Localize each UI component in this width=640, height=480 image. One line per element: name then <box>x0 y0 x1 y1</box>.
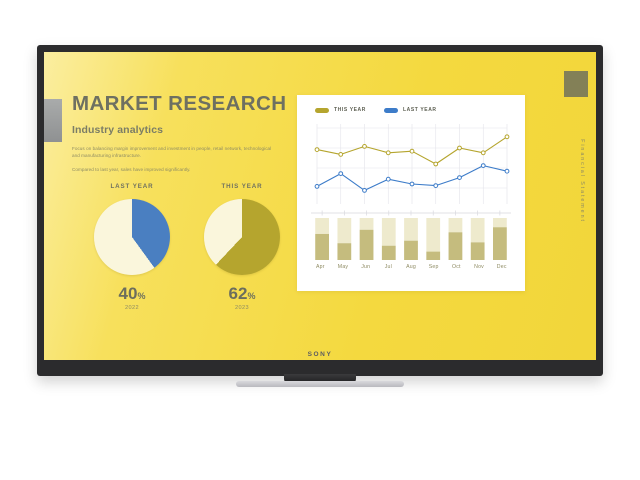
bar-column <box>404 218 418 260</box>
body-paragraph-1: Focus on balancing margin improvement an… <box>72 145 272 160</box>
pie-year-this-year: 2023 <box>190 305 294 311</box>
pie-stats-last-year: 40% 2022 <box>80 285 184 311</box>
slide-subtitle: Industry analytics <box>72 124 312 136</box>
legend-swatch-this-year <box>315 108 329 113</box>
pie-percent-this-year: % <box>247 291 255 301</box>
sony-brand-logo: SONY <box>44 351 596 358</box>
body-paragraph-2: Compared to last year, sales have improv… <box>72 166 272 173</box>
pie-percent-last-year: % <box>137 291 145 301</box>
page-title: MARKET RESEARCH <box>72 94 312 115</box>
month-label: Sep <box>422 264 445 270</box>
sony-display: MARKET RESEARCH Industry analytics Focus… <box>37 45 603 376</box>
month-label: Aug <box>400 264 423 270</box>
pie-value-this-year: 62% <box>190 285 294 302</box>
pie-block-last-year: LAST YEAR 40% 2022 <box>80 183 184 311</box>
pie-chart-last-year <box>94 199 170 275</box>
month-label: Dec <box>490 264 513 270</box>
month-label: Jun <box>354 264 377 270</box>
accent-bar-right <box>564 71 588 97</box>
pie-year-last-year: 2022 <box>80 305 184 311</box>
legend-item-last-year: LAST YEAR <box>384 107 437 113</box>
bar-chart <box>307 210 515 262</box>
line-chart <box>307 120 515 208</box>
bar-column <box>493 218 507 260</box>
pie-number-this-year: 62 <box>229 284 248 303</box>
bar-column <box>315 218 329 260</box>
side-label: Financial Statement <box>575 106 589 256</box>
presentation-slide: MARKET RESEARCH Industry analytics Focus… <box>44 52 596 360</box>
monitor-stand-base <box>236 381 404 387</box>
pie-chart-this-year <box>204 199 280 275</box>
chart-legend: THIS YEAR LAST YEAR <box>307 107 515 113</box>
bar-column <box>382 218 396 260</box>
screenshot-scene: MARKET RESEARCH Industry analytics Focus… <box>0 0 640 480</box>
legend-item-this-year: THIS YEAR <box>315 107 366 113</box>
chart-card: THIS YEAR LAST YEAR AprMayJunJulAugSepOc… <box>297 95 525 291</box>
legend-swatch-last-year <box>384 108 398 113</box>
month-label: Apr <box>309 264 332 270</box>
legend-label-this-year: THIS YEAR <box>334 107 366 113</box>
accent-bar-left <box>44 99 62 142</box>
legend-label-last-year: LAST YEAR <box>403 107 437 113</box>
bar-column <box>426 218 440 260</box>
month-label: Nov <box>468 264 491 270</box>
chart-gridlines <box>317 124 507 204</box>
month-axis-labels: AprMayJunJulAugSepOctNovDec <box>307 264 515 270</box>
month-label: Oct <box>445 264 468 270</box>
pie-stats-this-year: 62% 2023 <box>190 285 294 311</box>
bar-column <box>360 218 374 260</box>
bar-column <box>337 218 351 260</box>
bar-column <box>449 218 463 260</box>
bar-chart-axis <box>311 211 511 216</box>
pie-value-last-year: 40% <box>80 285 184 302</box>
pie-number-last-year: 40 <box>119 284 138 303</box>
pie-caption-this-year: THIS YEAR <box>190 183 294 190</box>
display-bezel: MARKET RESEARCH Industry analytics Focus… <box>44 52 596 360</box>
slide-left-column: MARKET RESEARCH Industry analytics Focus… <box>72 94 312 174</box>
month-label: May <box>332 264 355 270</box>
month-label: Jul <box>377 264 400 270</box>
bar-column <box>471 218 485 260</box>
pie-block-this-year: THIS YEAR 62% 2023 <box>190 183 294 311</box>
side-label-text: Financial Statement <box>579 139 585 223</box>
pie-caption-last-year: LAST YEAR <box>80 183 184 190</box>
